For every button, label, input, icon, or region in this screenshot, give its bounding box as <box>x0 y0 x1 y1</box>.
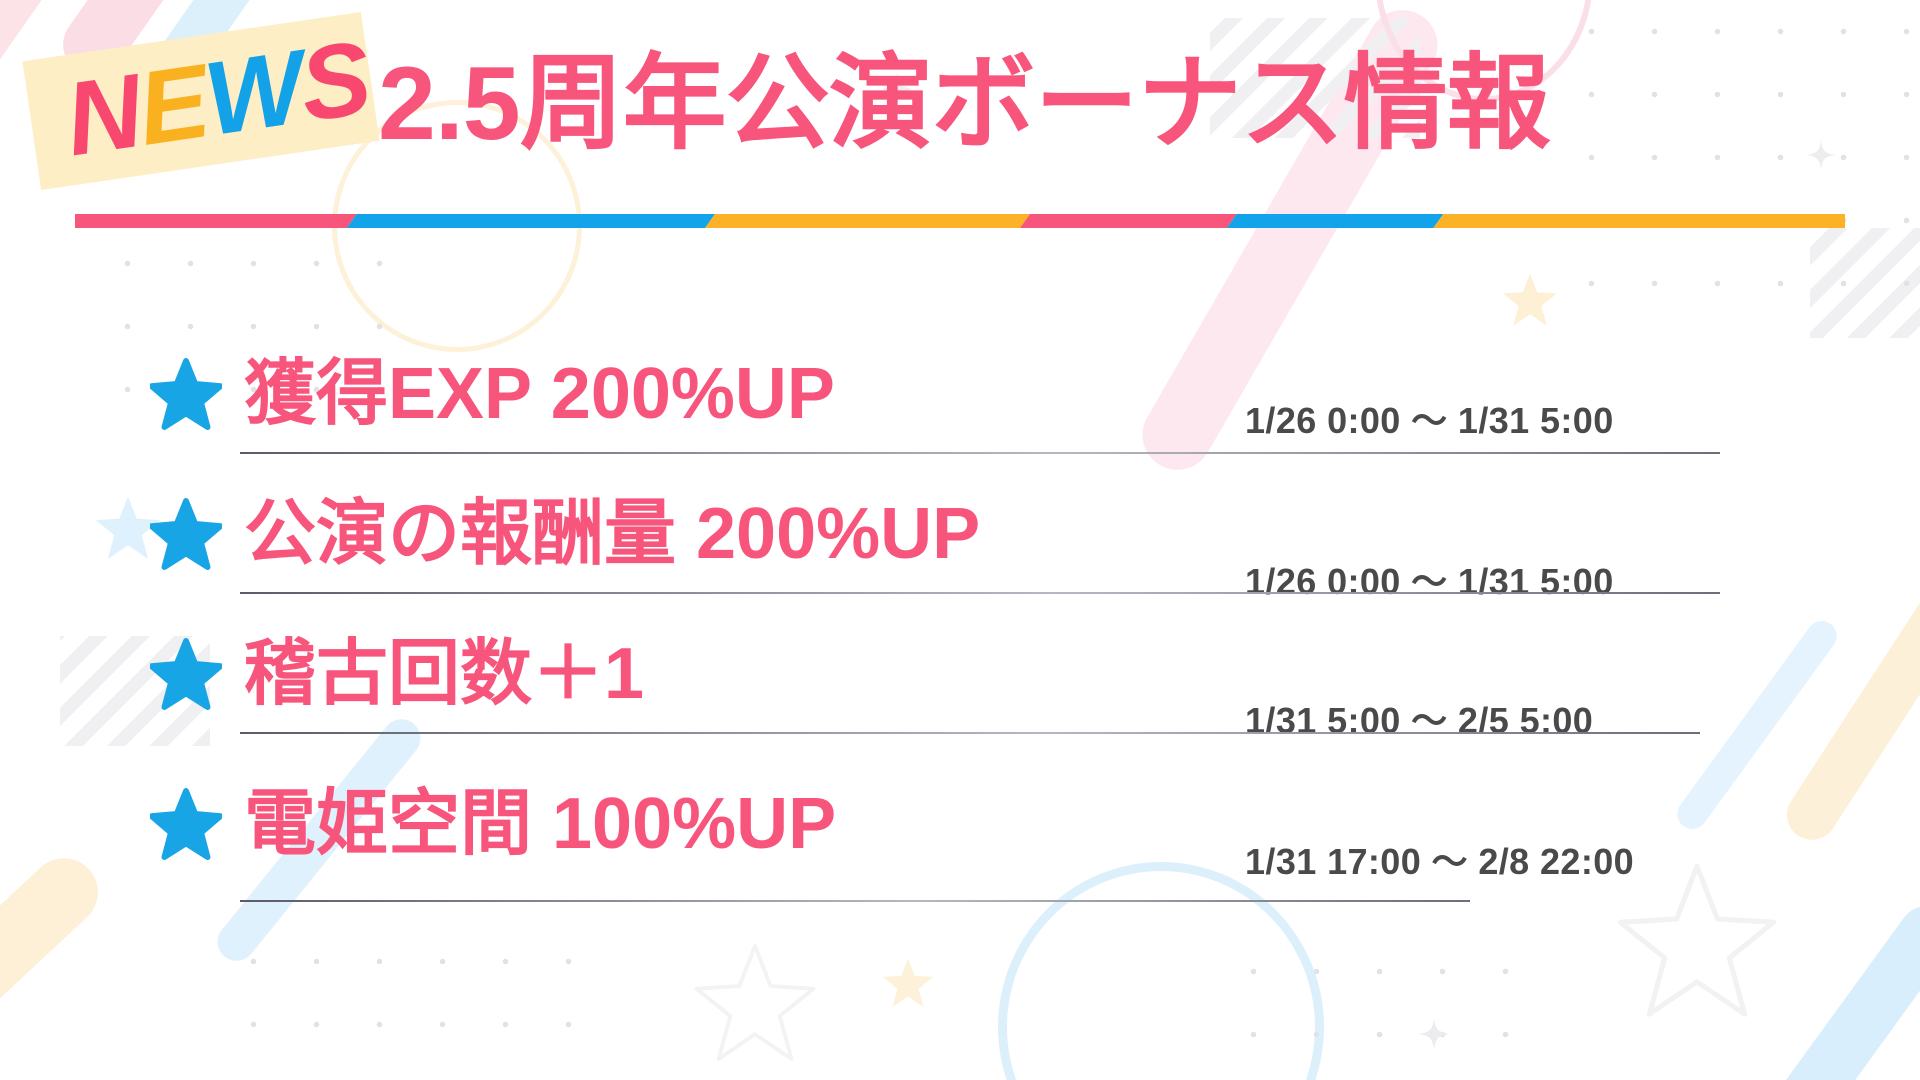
bonus-row-label: 電姫空間 100%UP <box>244 782 836 866</box>
star-icon <box>150 358 222 430</box>
bonus-row-underline <box>240 592 1720 594</box>
bonus-row-period: 1/26 0:00 ～ 1/31 5:00 <box>1245 392 1614 444</box>
bonus-row-period: 1/31 17:00 ～ 2/8 22:00 <box>1245 833 1634 885</box>
star-icon <box>150 498 222 570</box>
bonus-row-underline <box>240 732 1700 734</box>
news-banner: NEWS 2.5周年公演ボーナス情報 獲得EXP 200%UP1/26 0:00… <box>0 0 1920 1080</box>
bonus-row-label: 公演の報酬量 200%UP <box>244 492 980 576</box>
bonus-row: 稽古回数＋1 <box>150 632 644 716</box>
bonus-row: 獲得EXP 200%UP <box>150 352 835 436</box>
bonus-row-label: 獲得EXP 200%UP <box>244 352 835 436</box>
star-icon <box>150 788 222 860</box>
star-icon <box>150 638 222 710</box>
bonus-row: 電姫空間 100%UP <box>150 782 836 866</box>
bonus-row: 公演の報酬量 200%UP <box>150 492 980 576</box>
bonus-row-underline <box>240 900 1470 902</box>
bonus-row-underline <box>240 452 1720 454</box>
bonus-row-period: 1/31 5:00 ～ 2/5 5:00 <box>1245 692 1593 744</box>
bonus-row-label: 稽古回数＋1 <box>244 632 644 716</box>
bonus-row-period: 1/26 0:00 ～ 1/31 5:00 <box>1245 553 1614 605</box>
bonus-list: 獲得EXP 200%UP1/26 0:00 ～ 1/31 5:00公演の報酬量 … <box>0 0 1920 1080</box>
